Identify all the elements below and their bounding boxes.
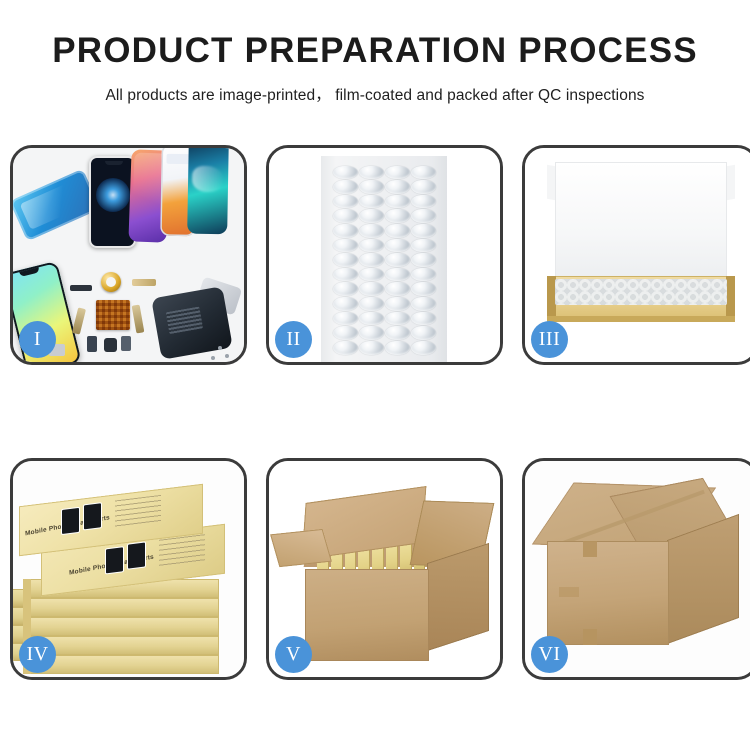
copper-pad-part-icon <box>96 300 130 330</box>
box-slab <box>23 617 219 636</box>
camera-module-part-icon <box>87 336 97 352</box>
page-title: PRODUCT PREPARATION PROCESS <box>0 33 750 68</box>
page-subtitle: All products are image-printed， film-coa… <box>0 83 750 105</box>
box-phone-thumbnail <box>83 502 102 530</box>
step-panel-3[interactable]: III <box>522 145 750 365</box>
screw-icon <box>225 354 229 358</box>
box-phone-thumbnail <box>61 507 80 535</box>
flex-cable-part-icon <box>72 307 86 334</box>
step-badge-3: III <box>531 321 568 358</box>
box-phone-thumbnail <box>105 546 124 574</box>
step-panel-2[interactable]: II <box>266 145 503 365</box>
page-header: PRODUCT PREPARATION PROCESS All products… <box>0 0 750 105</box>
box-spec-lines <box>159 534 205 568</box>
screw-icon <box>218 346 222 350</box>
box-slab <box>23 598 219 617</box>
process-step-grid: I II <box>10 145 742 680</box>
step-panel-6[interactable]: VI <box>522 458 750 680</box>
flex-cable-part-icon <box>132 279 156 286</box>
step-badge-2: II <box>275 321 312 358</box>
box-phone-thumbnail <box>127 541 146 569</box>
flex-cable-part-icon <box>132 305 145 334</box>
tray-front-lip <box>547 316 735 322</box>
phone-teal-image <box>187 148 229 234</box>
box-spec-lines <box>115 495 161 529</box>
step-badge-1: I <box>19 321 56 358</box>
connector-part-icon <box>70 285 92 291</box>
gold-coil-part-icon <box>101 272 121 292</box>
phone-flex-lcd-image <box>13 169 100 242</box>
box-lid-image <box>555 162 727 282</box>
step-panel-5[interactable]: V <box>266 458 503 680</box>
step-badge-5: V <box>275 636 312 673</box>
packing-tape-top <box>583 541 597 557</box>
step-panel-1[interactable]: I <box>10 145 247 365</box>
step-panel-4[interactable]: Mobile Phone Spare Parts Mobile Phone Sp… <box>10 458 247 680</box>
vibrator-part-icon <box>121 336 131 351</box>
packing-tape-bottom <box>583 629 597 645</box>
shipping-mark <box>559 587 579 597</box>
step-badge-6: VI <box>531 636 568 673</box>
step-badge-4: IV <box>19 636 56 673</box>
bubble-wrapped-contents <box>555 279 727 305</box>
bubble-pouch-image <box>321 156 447 362</box>
carton-front-panel <box>305 569 429 661</box>
speaker-part-icon <box>104 338 117 352</box>
screw-icon <box>211 356 215 360</box>
kraft-tray-image <box>547 276 735 322</box>
carton-side-panel <box>427 543 489 651</box>
bubble-grid <box>332 165 436 355</box>
carton-flap-left <box>270 529 332 567</box>
